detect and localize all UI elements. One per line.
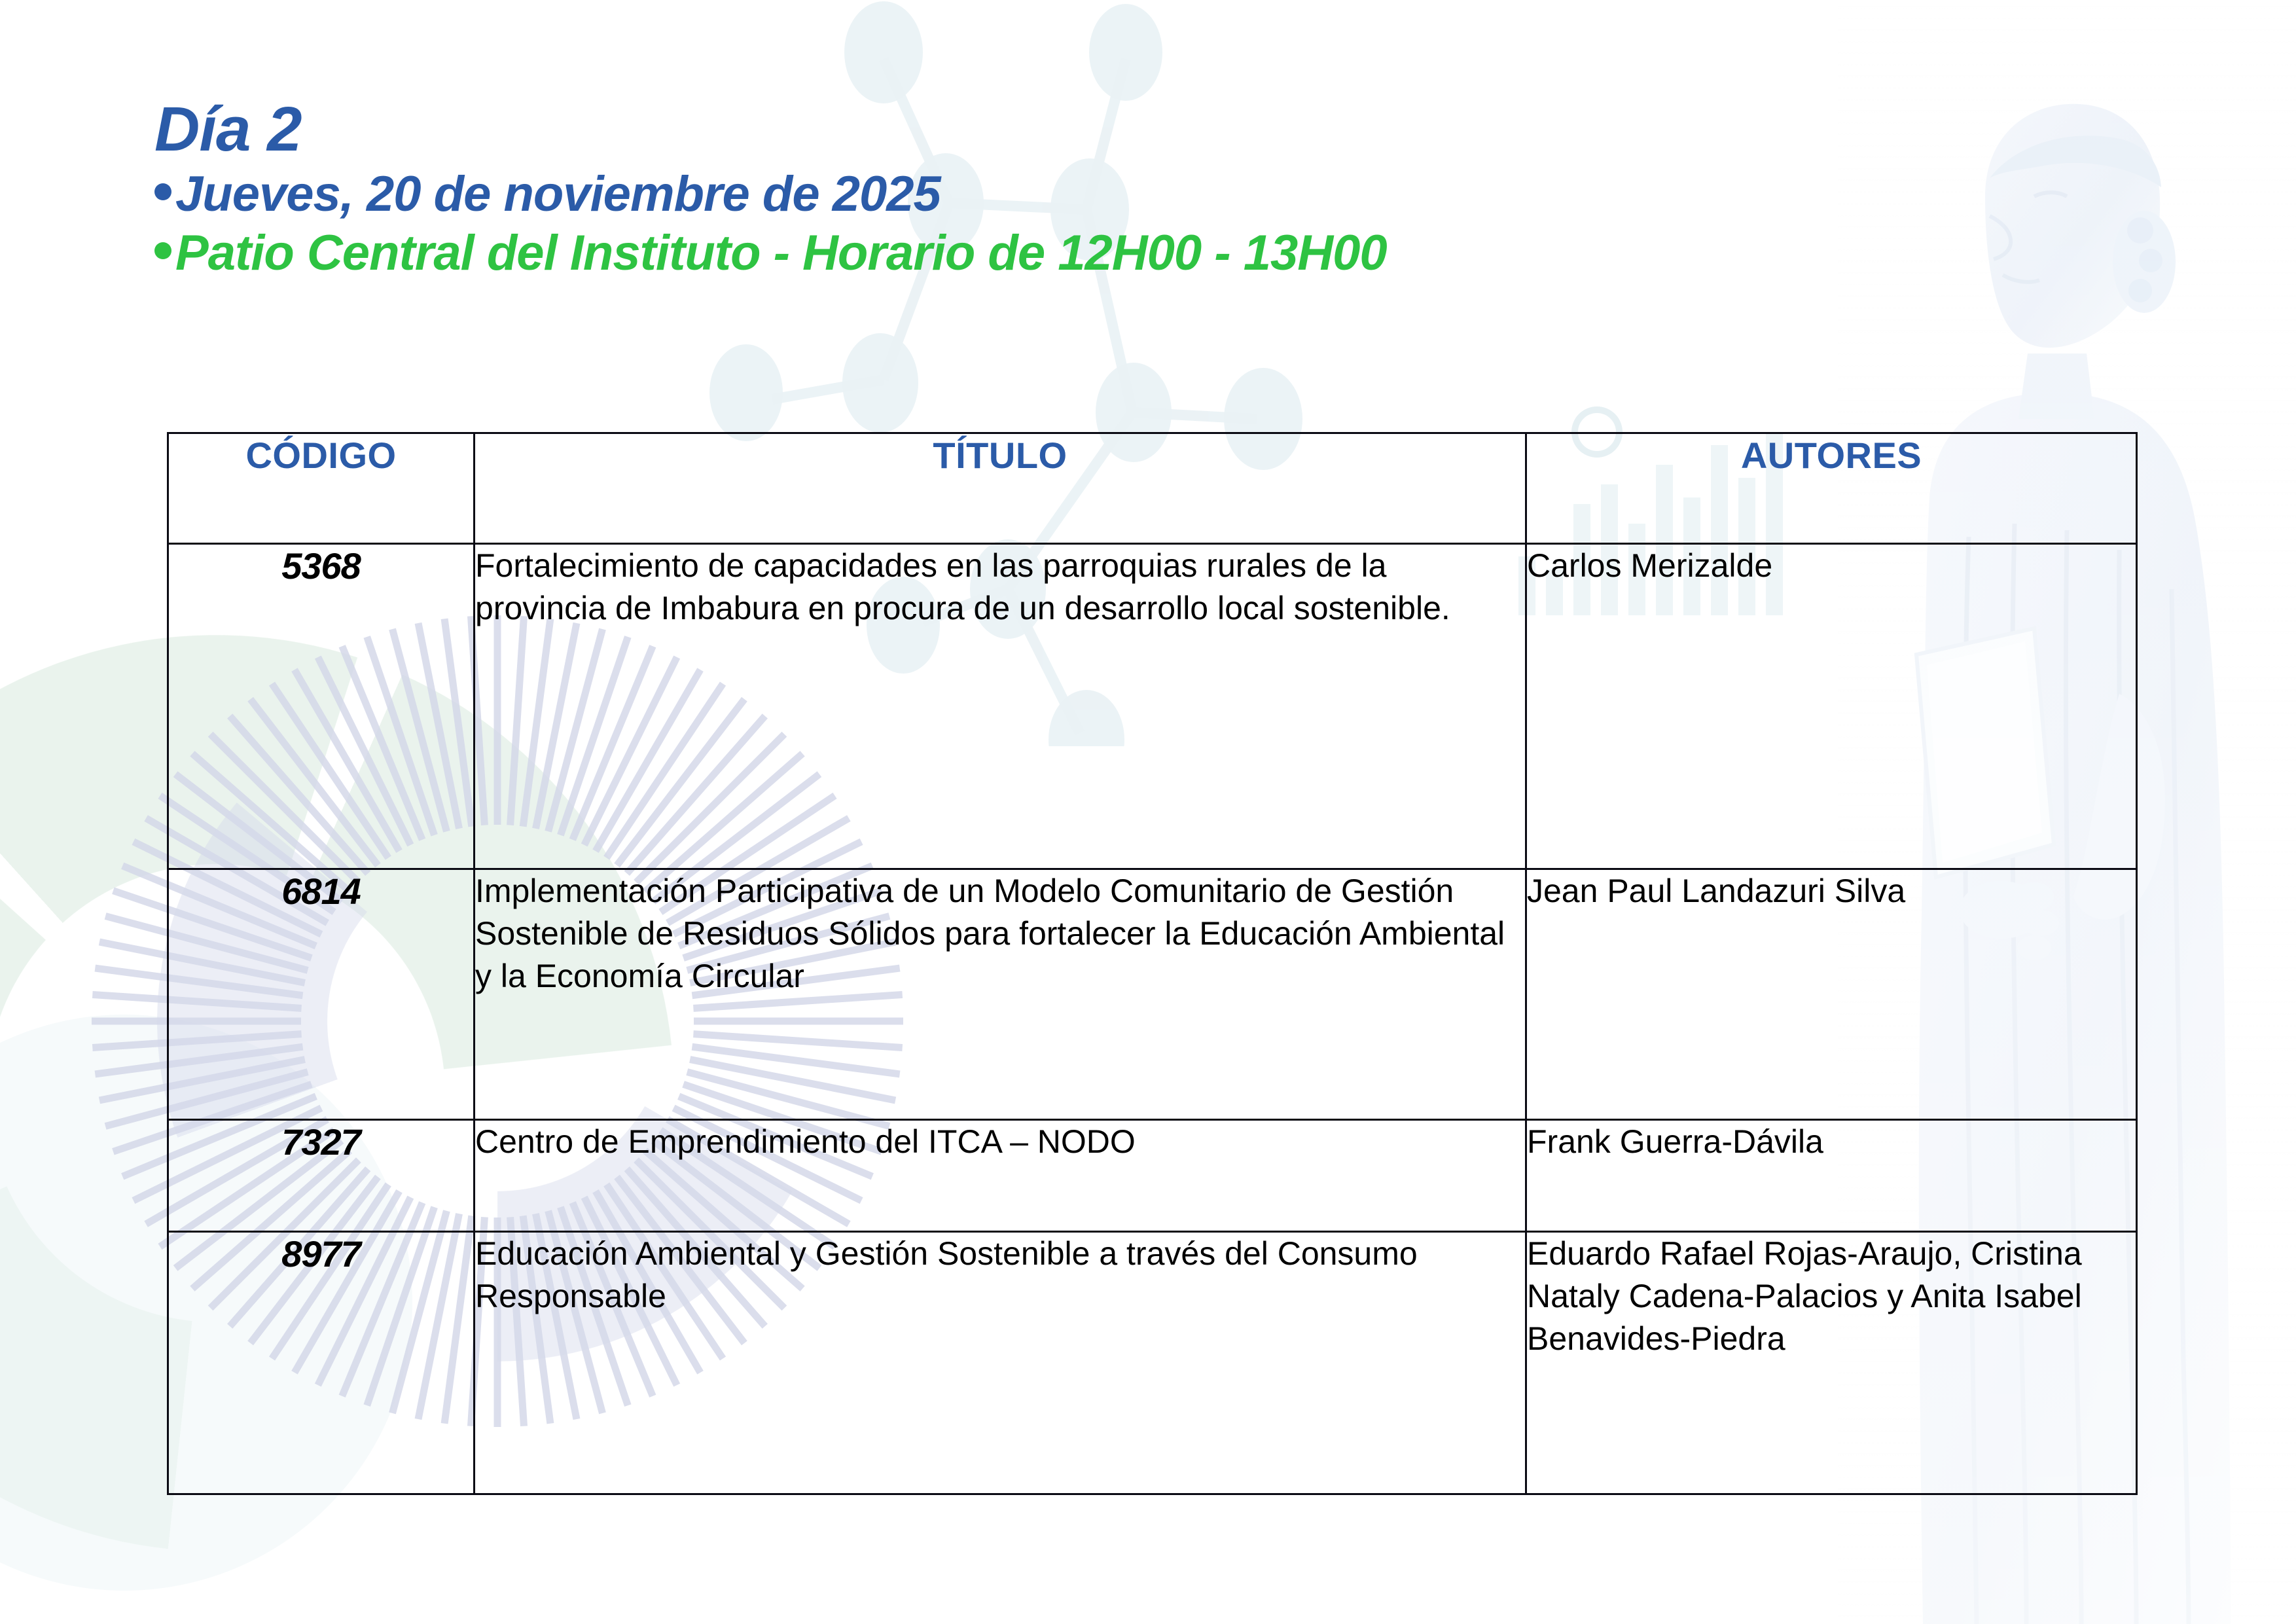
table-row: 7327 Centro de Emprendimiento del ITCA –… [168, 1120, 2137, 1232]
table-row: 5368 Fortalecimiento de capacidades en l… [168, 544, 2137, 869]
table-header-row: CÓDIGO TÍTULO AUTORES [168, 433, 2137, 544]
page-title: Día 2 [154, 98, 1387, 161]
cell-title: Implementación Participativa de un Model… [475, 869, 1526, 1120]
header-date-line: Jueves, 20 de noviembre de 2025 [154, 165, 1387, 224]
cell-authors: Jean Paul Landazuri Silva [1526, 869, 2137, 1120]
header-place-line: Patio Central del Instituto - Horario de… [154, 224, 1387, 283]
page-header: Día 2 Jueves, 20 de noviembre de 2025 Pa… [154, 98, 1387, 282]
cell-code: 7327 [168, 1120, 475, 1232]
column-header-autores: AUTORES [1526, 433, 2137, 544]
cell-title: Fortalecimiento de capacidades en las pa… [475, 544, 1526, 869]
cell-authors: Frank Guerra-Dávila [1526, 1120, 2137, 1232]
table-row: 6814 Implementación Participativa de un … [168, 869, 2137, 1120]
bullet-dot-icon [154, 242, 171, 259]
cell-authors: Eduardo Rafael Rojas-Araujo, Cristina Na… [1526, 1232, 2137, 1494]
table-row: 8977 Educación Ambiental y Gestión Soste… [168, 1232, 2137, 1494]
column-header-titulo: TÍTULO [475, 433, 1526, 544]
cell-title: Centro de Emprendimiento del ITCA – NODO [475, 1120, 1526, 1232]
bullet-dot-icon [154, 183, 171, 200]
column-header-codigo: CÓDIGO [168, 433, 475, 544]
cell-code: 5368 [168, 544, 475, 869]
cell-code: 6814 [168, 869, 475, 1120]
header-place-text: Patio Central del Instituto - Horario de… [175, 224, 1387, 283]
cell-title: Educación Ambiental y Gestión Sostenible… [475, 1232, 1526, 1494]
schedule-table: CÓDIGO TÍTULO AUTORES 5368 Fortalecimien… [167, 432, 2138, 1495]
header-date-text: Jueves, 20 de noviembre de 2025 [175, 165, 941, 224]
cell-code: 8977 [168, 1232, 475, 1494]
cell-authors: Carlos Merizalde [1526, 544, 2137, 869]
